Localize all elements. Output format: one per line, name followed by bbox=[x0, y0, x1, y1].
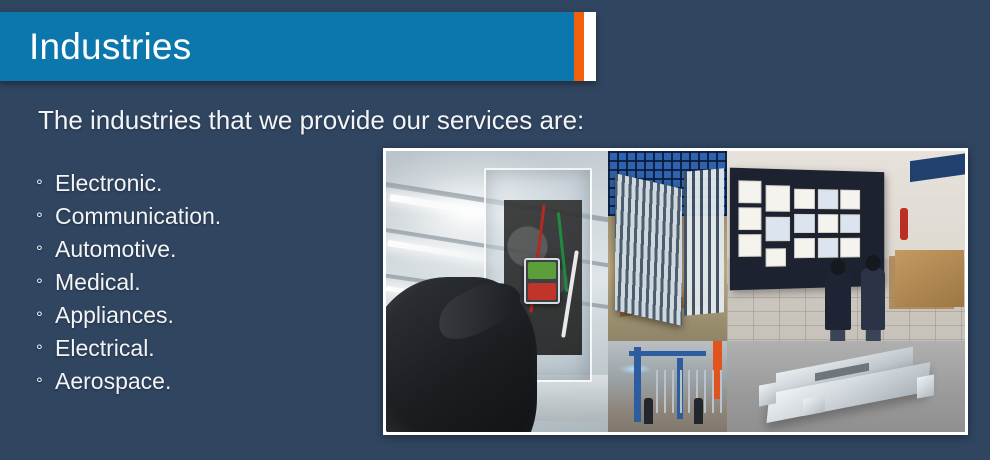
bullet-marker-icon: ° bbox=[36, 171, 55, 201]
decorative-shape bbox=[766, 248, 786, 267]
photo-bulletin-board bbox=[727, 151, 968, 341]
push-button-pad bbox=[524, 258, 560, 304]
list-item: ° Communication. bbox=[36, 201, 221, 234]
decorative-shape bbox=[386, 277, 537, 435]
start-button-green bbox=[528, 262, 556, 279]
list-item: ° Appliances. bbox=[36, 300, 221, 333]
industries-list: ° Electronic. ° Communication. ° Automot… bbox=[36, 168, 221, 399]
decorative-shape bbox=[684, 168, 724, 316]
decorative-shape bbox=[794, 238, 815, 258]
bullet-marker-icon: ° bbox=[36, 303, 55, 333]
photo-collage bbox=[383, 148, 968, 435]
decorative-shape bbox=[738, 207, 761, 230]
intro-text: The industries that we provide our servi… bbox=[38, 105, 584, 136]
decorative-shape bbox=[738, 180, 761, 203]
list-item: ° Automotive. bbox=[36, 234, 221, 267]
decorative-shape bbox=[629, 351, 705, 356]
list-item: ° Electrical. bbox=[36, 333, 221, 366]
decorative-shape bbox=[818, 214, 838, 234]
decorative-shape bbox=[840, 214, 860, 233]
list-item-label: Medical. bbox=[55, 267, 141, 297]
decorative-shape bbox=[840, 238, 860, 257]
photo-paint-line-racks bbox=[608, 341, 727, 435]
decorative-shape bbox=[861, 268, 885, 330]
decorative-shape bbox=[759, 382, 776, 407]
bullet-marker-icon: ° bbox=[36, 237, 55, 267]
list-item-label: Electronic. bbox=[55, 168, 162, 198]
decorative-shape bbox=[766, 186, 790, 212]
decorative-shape bbox=[910, 153, 968, 182]
decorative-shape bbox=[830, 330, 846, 341]
header-teal-bar: Industries bbox=[0, 12, 574, 81]
decorative-shape bbox=[615, 174, 682, 326]
decorative-shape bbox=[866, 330, 880, 341]
decorative-shape bbox=[900, 208, 908, 240]
decorative-shape bbox=[818, 238, 838, 258]
list-item-label: Appliances. bbox=[55, 300, 174, 330]
header-accent-white bbox=[584, 12, 596, 81]
photo-cad-bracket bbox=[727, 341, 968, 435]
list-item: ° Aerospace. bbox=[36, 366, 221, 399]
bullet-marker-icon: ° bbox=[36, 204, 55, 234]
header-accent-orange bbox=[574, 12, 584, 81]
decorative-shape bbox=[738, 234, 761, 257]
decorative-shape bbox=[830, 259, 845, 275]
list-item-label: Communication. bbox=[55, 201, 221, 231]
stop-button-red bbox=[528, 283, 556, 300]
list-item: ° Medical. bbox=[36, 267, 221, 300]
page-title: Industries bbox=[0, 28, 191, 65]
decorative-shape bbox=[644, 398, 653, 424]
bullet-marker-icon: ° bbox=[36, 369, 55, 399]
bullet-marker-icon: ° bbox=[36, 270, 55, 300]
decorative-shape bbox=[794, 189, 815, 209]
decorative-shape bbox=[895, 250, 963, 307]
decorative-shape bbox=[794, 213, 815, 233]
slide: Industries The industries that we provid… bbox=[0, 0, 990, 460]
decorative-shape bbox=[656, 370, 723, 413]
list-item-label: Electrical. bbox=[55, 333, 155, 363]
bullet-marker-icon: ° bbox=[36, 336, 55, 366]
decorative-shape bbox=[825, 272, 851, 330]
header-band: Industries bbox=[0, 12, 596, 81]
photo-control-panel bbox=[386, 151, 608, 435]
decorative-shape bbox=[917, 374, 934, 399]
list-item-label: Aerospace. bbox=[55, 366, 171, 396]
decorative-shape bbox=[840, 189, 860, 209]
decorative-shape bbox=[694, 398, 703, 424]
photo-heatsink-fins bbox=[608, 151, 727, 341]
decorative-shape bbox=[818, 189, 838, 209]
list-item-label: Automotive. bbox=[55, 234, 176, 264]
list-item: ° Electronic. bbox=[36, 168, 221, 201]
decorative-shape bbox=[766, 217, 790, 242]
decorative-shape bbox=[634, 347, 641, 423]
decorative-shape bbox=[803, 395, 825, 417]
decorative-shape bbox=[866, 255, 881, 271]
